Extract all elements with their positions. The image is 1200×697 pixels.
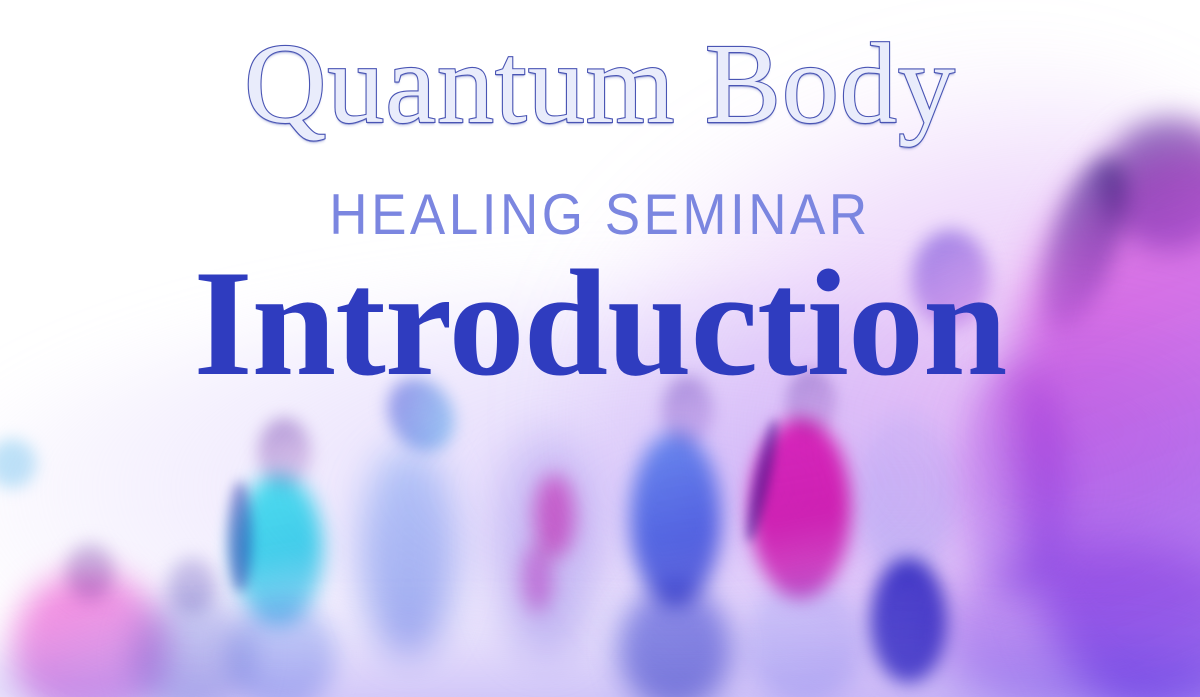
page-title: Introduction: [0, 244, 1200, 404]
brand-title: Quantum Body: [0, 26, 1200, 142]
title-block: Quantum Body HEALING SEMINAR Introductio…: [0, 0, 1200, 697]
subtitle: HEALING SEMINAR: [0, 182, 1200, 248]
seminar-title-card: Quantum Body HEALING SEMINAR Introductio…: [0, 0, 1200, 697]
